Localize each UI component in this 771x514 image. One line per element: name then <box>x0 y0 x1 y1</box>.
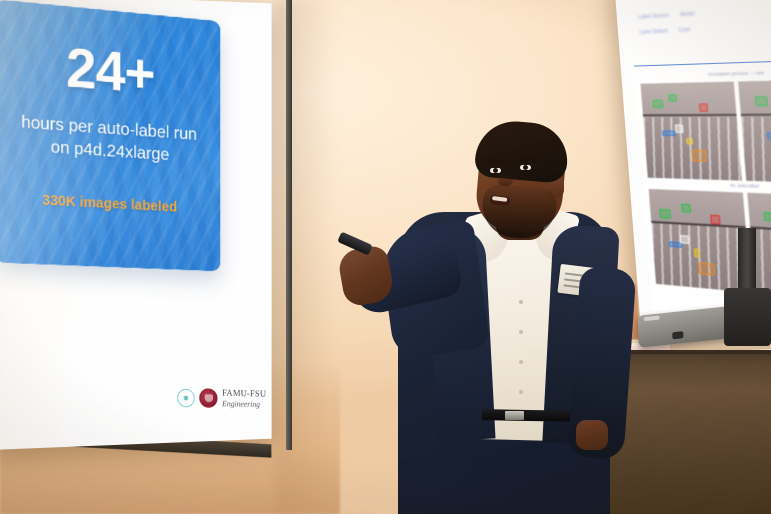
presentation-photo-scene: s at Sca Label Source Model Lane Detect … <box>0 0 771 514</box>
left-screen-bezel <box>286 0 292 450</box>
nose <box>498 174 513 186</box>
logo-line-2: Engineering <box>222 399 266 409</box>
presenter-left-hand <box>576 420 608 450</box>
teal-circle-logo <box>177 388 194 407</box>
stat-accent-metric: 330K images labeled <box>5 191 211 218</box>
stat-number: 24+ <box>5 34 211 107</box>
slide-footer-logos: FAMU-FSU Engineering <box>177 388 266 410</box>
shirt-button <box>519 330 523 334</box>
belt <box>482 409 584 422</box>
eye-left <box>490 168 501 173</box>
stat-card: 24+ hours per auto-label run on p4d.24xl… <box>0 0 220 271</box>
left-projection-screen: 24+ hours per auto-label run on p4d.24xl… <box>0 0 272 450</box>
presenter-hair <box>474 118 571 184</box>
shirt-button <box>519 360 523 364</box>
shirt-button <box>519 300 523 304</box>
logo-wordmark: FAMU-FSU Engineering <box>222 389 266 409</box>
famu-fsu-seal-icon <box>199 388 217 408</box>
eye-right <box>520 165 531 170</box>
shirt-button <box>519 390 523 394</box>
eyebrow-right <box>519 157 536 162</box>
belt-buckle <box>505 411 524 420</box>
